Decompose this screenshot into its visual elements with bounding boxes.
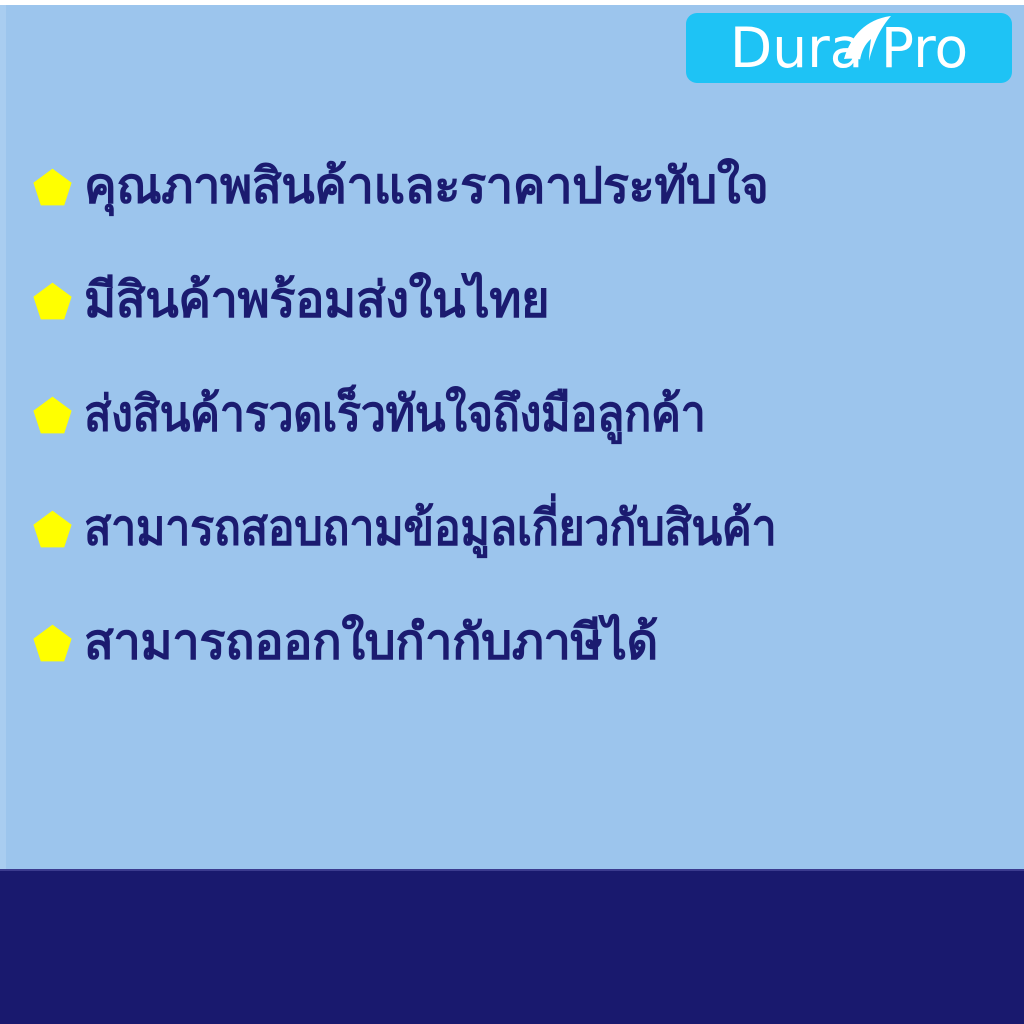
- benefits-list: คุณภาพสินค้าและราคาประทับใจ มีสินค้าพร้อ…: [0, 130, 1024, 700]
- benefit-text: มีสินค้าพร้อมส่งในไทย: [84, 274, 549, 325]
- pentagon-bullet-icon: [33, 282, 72, 320]
- footer-band: [0, 871, 1024, 1024]
- list-item: คุณภาพสินค้าและราคาประทับใจ: [0, 130, 1024, 244]
- list-item: สามารถสอบถามข้อมูลเกี่ยวกับสินค้า: [0, 472, 1024, 586]
- brand-logo[interactable]: Dura Pro: [686, 13, 1012, 83]
- pentagon-bullet-icon: [33, 510, 72, 548]
- pentagon-bullet-icon: [33, 168, 72, 206]
- benefit-text: สามารถสอบถามข้อมูลเกี่ยวกับสินค้า: [84, 502, 776, 553]
- list-item: สามารถออกใบกำกับภาษีได้: [0, 586, 1024, 700]
- brand-logo-text: Dura Pro: [686, 13, 1012, 83]
- pentagon-bullet-icon: [33, 624, 72, 662]
- banner-canvas: Dura Pro คุณภาพสินค้าและราคาประทับใจ มีส…: [0, 0, 1024, 1024]
- list-item: มีสินค้าพร้อมส่งในไทย: [0, 244, 1024, 358]
- benefit-text: สามารถออกใบกำกับภาษีได้: [84, 616, 658, 667]
- list-item: ส่งสินค้ารวดเร็วทันใจถึงมือลูกค้า: [0, 358, 1024, 472]
- benefit-text: คุณภาพสินค้าและราคาประทับใจ: [84, 160, 768, 211]
- benefit-text: ส่งสินค้ารวดเร็วทันใจถึงมือลูกค้า: [84, 388, 705, 439]
- pentagon-bullet-icon: [33, 396, 72, 434]
